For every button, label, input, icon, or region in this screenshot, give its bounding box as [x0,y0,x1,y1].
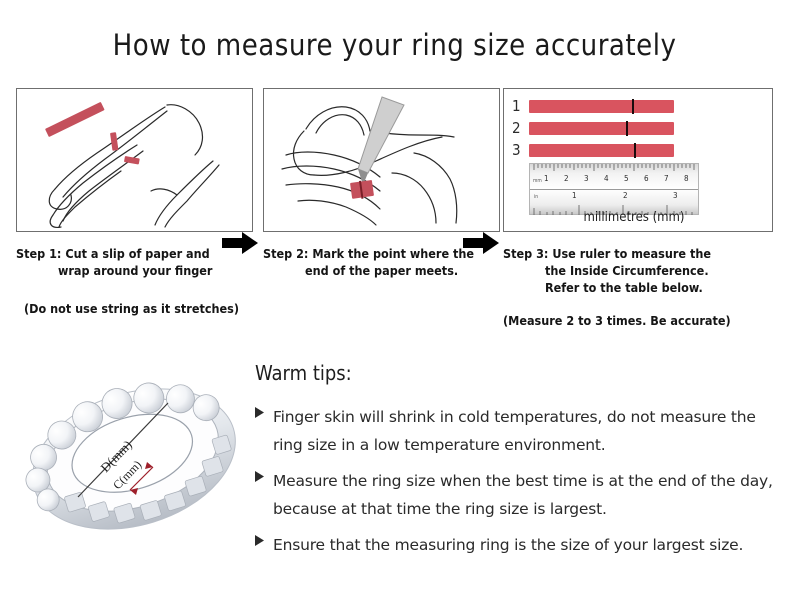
strip-mark-2 [626,121,628,136]
step-2-label: Step 2: [263,246,308,261]
tip-item: Measure the ring size when the best time… [255,467,775,523]
ring-diagram: D(mm) C(mm) [18,355,250,560]
strip-row: 3 [512,141,762,160]
ruler-imperial-num-1: 1 [572,192,577,200]
strip-mark-3 [634,143,636,158]
inside-circumference-emphasis: Inside Circumference [570,263,704,278]
triangle-bullet-icon [255,403,273,418]
hands-marking-pen-illustration [264,89,499,231]
warm-tips-heading: Warm tips: [255,361,775,385]
step-3-line2-pre: the [545,263,570,278]
arrow-right-icon-2 [463,230,499,256]
step-3-label: Step 3: [503,246,548,261]
ruler-metric-num-6: 6 [644,175,649,183]
step-3-line1: Use ruler to measure the [552,246,711,261]
ruler-metric-num-5: 5 [624,175,629,183]
triangle-bullet-icon [255,531,273,546]
step-1-line1: Cut a slip of paper and [65,246,209,261]
triangle-bullet-icon [255,467,273,482]
strips-and-ruler-illustration: 1 2 3 [504,89,772,231]
tip-text-1: Finger skin will shrink in cold temperat… [273,403,775,459]
ruler-metric-num-7: 7 [664,175,669,183]
tip-item: Ensure that the measuring ring is the si… [255,531,775,559]
step-3-column: 1 2 3 [503,88,773,328]
ruler-metric-unit: mm [533,177,542,185]
paper-strip-1 [529,100,674,113]
tip-text-3: Ensure that the measuring ring is the si… [273,531,743,559]
strip-number-3: 3 [512,143,529,158]
step-3-line2-post: . [704,263,708,278]
ruler-metric-num-2: 2 [564,175,569,183]
step-3-line2: the Inside Circumference. [503,262,773,279]
ruler-unit-label: millimetres (mm) [504,210,764,225]
strip-number-1: 1 [512,99,529,114]
tip-item: Finger skin will shrink in cold temperat… [255,403,775,459]
ruler-metric-num-4: 4 [604,175,609,183]
ruler: mm 1 2 3 4 5 6 7 8 in 1 2 [529,163,699,215]
strip-number-2: 2 [512,121,529,136]
strip-mark-1 [632,99,634,114]
step-3-line3: Refer to the table below. [503,279,773,296]
ruler-metric-num-8: 8 [684,175,689,183]
step-2-panel [263,88,500,232]
steps-row: Step 1: Cut a slip of paper and wrap aro… [0,88,789,338]
step-1-line2: wrap around your finger [16,262,253,279]
strip-row: 2 [512,119,762,138]
ruler-metric-num-3: 3 [584,175,589,183]
step-1-note: (Do not use string as it stretches) [16,301,253,316]
step-1-caption: Step 1: Cut a slip of paper and wrap aro… [16,245,253,279]
step-2-line2: end of the paper meets. [263,262,500,279]
step-3-note: (Measure 2 to 3 times. Be accurate) [503,313,773,328]
paper-strip-3 [529,144,674,157]
step-3-caption: Step 3: Use ruler to measure the the Ins… [503,245,773,296]
arrow-right-icon-1 [222,230,258,256]
ruler-metric-ticks [530,164,698,188]
ruler-metric-band: mm 1 2 3 4 5 6 7 8 [530,164,698,190]
step-1-column: Step 1: Cut a slip of paper and wrap aro… [16,88,253,316]
ruler-imperial-unit: in [534,193,538,201]
pen-icon [358,97,404,185]
step-2-line1: Mark the point where the [312,246,474,261]
ruler-imperial-num-3: 3 [673,192,678,200]
step-1-panel [16,88,253,232]
paper-strip-2 [529,122,674,135]
page-title: How to measure your ring size accurately [0,28,789,62]
marked-paper-strip [350,180,374,199]
strip-row: 1 [512,97,762,116]
ruler-metric-num-1: 1 [544,175,549,183]
tip-text-2: Measure the ring size when the best time… [273,467,775,523]
ruler-imperial-num-2: 2 [623,192,628,200]
step-1-label: Step 1: [16,246,61,261]
bottom-section: D(mm) C(mm) Warm tips: Finger skin will … [0,345,789,606]
step-3-panel: 1 2 3 [503,88,773,232]
warm-tips-section: Warm tips: Finger skin will shrink in co… [255,361,775,567]
hand-with-paper-strip-illustration [17,89,252,231]
